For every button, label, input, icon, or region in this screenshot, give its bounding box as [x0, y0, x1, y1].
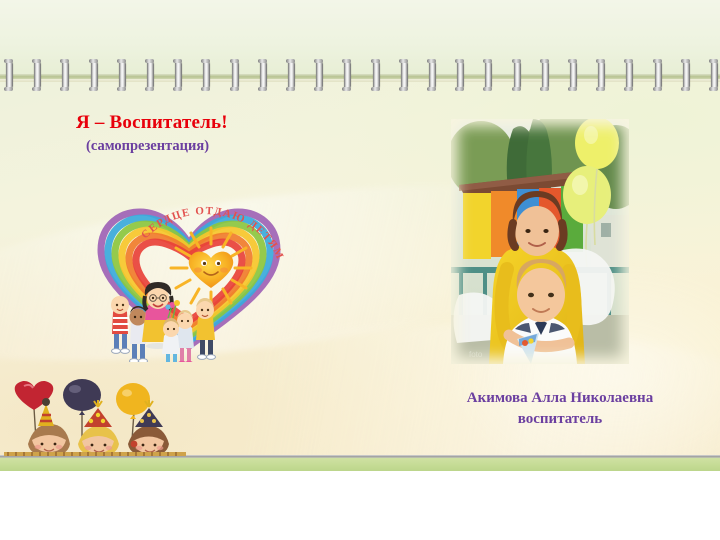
spiral-ring	[288, 60, 295, 90]
spiral-ring	[232, 60, 239, 90]
author-role: воспитатель	[410, 409, 710, 430]
spiral-ring	[655, 60, 662, 90]
spiral-ring	[683, 60, 690, 90]
spiral-ring	[175, 60, 182, 90]
page-subtitle: (самопрезентация)	[86, 138, 209, 155]
spiral-ring	[626, 60, 633, 90]
spiral-ring	[62, 60, 69, 90]
spiral-ring	[203, 60, 210, 90]
spiral-ring	[401, 60, 408, 90]
spiral-ring	[429, 60, 436, 90]
spiral-ring	[344, 60, 351, 90]
spiral-ring	[457, 60, 464, 90]
spiral-ring	[91, 60, 98, 90]
spiral-ring	[147, 60, 154, 90]
spiral-ring	[542, 60, 549, 90]
rainbow-heart-image: СЕРДЦЕ ОТДАЮ ДЕТЯМ	[85, 186, 297, 362]
spiral-ring	[711, 60, 718, 90]
presentation-slide: Я – Воспитатель! (самопрезентация)	[0, 0, 720, 471]
slide-top-band	[0, 0, 720, 78]
spiral-ring	[514, 60, 521, 90]
spiral-ring	[485, 60, 492, 90]
spiral-ring	[598, 60, 605, 90]
spiral-ring	[373, 60, 380, 90]
teacher-photo: foto	[451, 119, 629, 364]
children-balloons-image	[2, 378, 194, 460]
spiral-ring	[34, 60, 41, 90]
svg-text:foto: foto	[469, 350, 483, 359]
spiral-ring	[570, 60, 577, 90]
page-title: Я – Воспитатель!	[76, 112, 228, 134]
author-name: Акимова Алла Николаевна	[410, 388, 710, 409]
author-block: Акимова Алла Николаевна воспитатель	[410, 388, 710, 430]
spiral-rail-highlight	[0, 79, 720, 82]
spiral-ring	[119, 60, 126, 90]
spiral-ring	[316, 60, 323, 90]
spiral-ring	[260, 60, 267, 90]
spiral-ring	[6, 60, 13, 90]
